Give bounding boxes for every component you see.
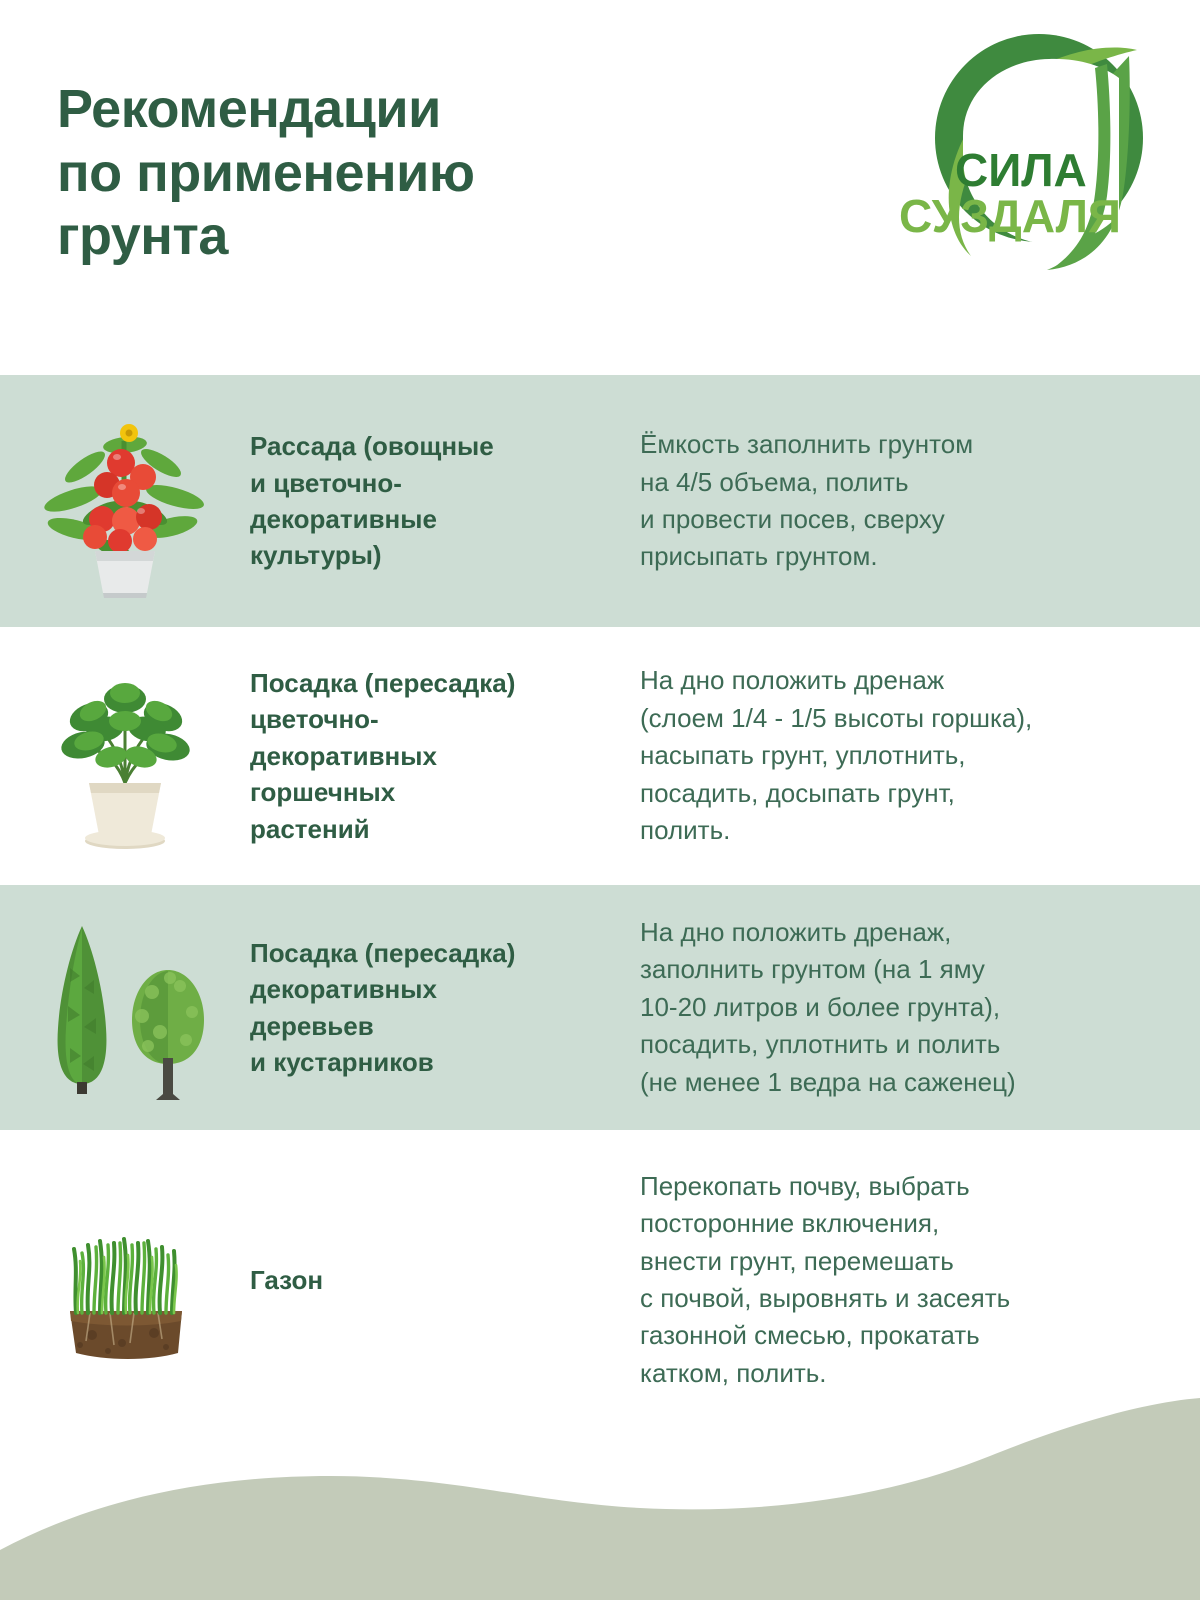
potted-flowering-houseplant-image	[0, 651, 250, 861]
tomato-seedling-in-pot-image	[0, 401, 250, 601]
row-title: Посадка (пересадка) цветочно- декоративн…	[250, 665, 640, 847]
recommendation-row: Посадка (пересадка) цветочно- декоративн…	[0, 627, 1200, 885]
recommendation-row: Газон Перекопать почву, выбрать посторон…	[0, 1130, 1200, 1430]
row-description: Перекопать почву, выбрать посторонние вк…	[640, 1168, 1200, 1393]
page-title: Рекомендации по применению грунта	[57, 78, 677, 269]
logo-line-1: СИЛА	[955, 144, 1087, 196]
row-title: Посадка (пересадка) декоративных деревье…	[250, 935, 640, 1081]
infographic-page: Рекомендации по применению грунта СИЛА	[0, 0, 1200, 1600]
lawn-grass-turf-image	[0, 1185, 250, 1375]
row-title: Рассада (овощные и цветочно- декоративны…	[250, 428, 640, 574]
logo-line-2: СУЗДАЛЯ	[899, 190, 1121, 242]
row-description: Ёмкость заполнить грунтом на 4/5 объема,…	[640, 426, 1200, 576]
row-description: На дно положить дренаж (слоем 1/4 - 1/5 …	[640, 662, 1200, 849]
decorative-trees-and-shrubs-image	[0, 908, 250, 1108]
sila-suzdalya-logo: СИЛА СУЗДАЛЯ	[893, 18, 1173, 283]
row-title: Газон	[250, 1262, 640, 1298]
bottom-wave-decoration	[0, 1390, 1200, 1600]
page-header: Рекомендации по применению грунта СИЛА	[0, 0, 1200, 375]
recommendation-row: Рассада (овощные и цветочно- декоративны…	[0, 375, 1200, 627]
recommendation-row: Посадка (пересадка) декоративных деревье…	[0, 885, 1200, 1130]
row-description: На дно положить дренаж, заполнить грунто…	[640, 914, 1200, 1101]
